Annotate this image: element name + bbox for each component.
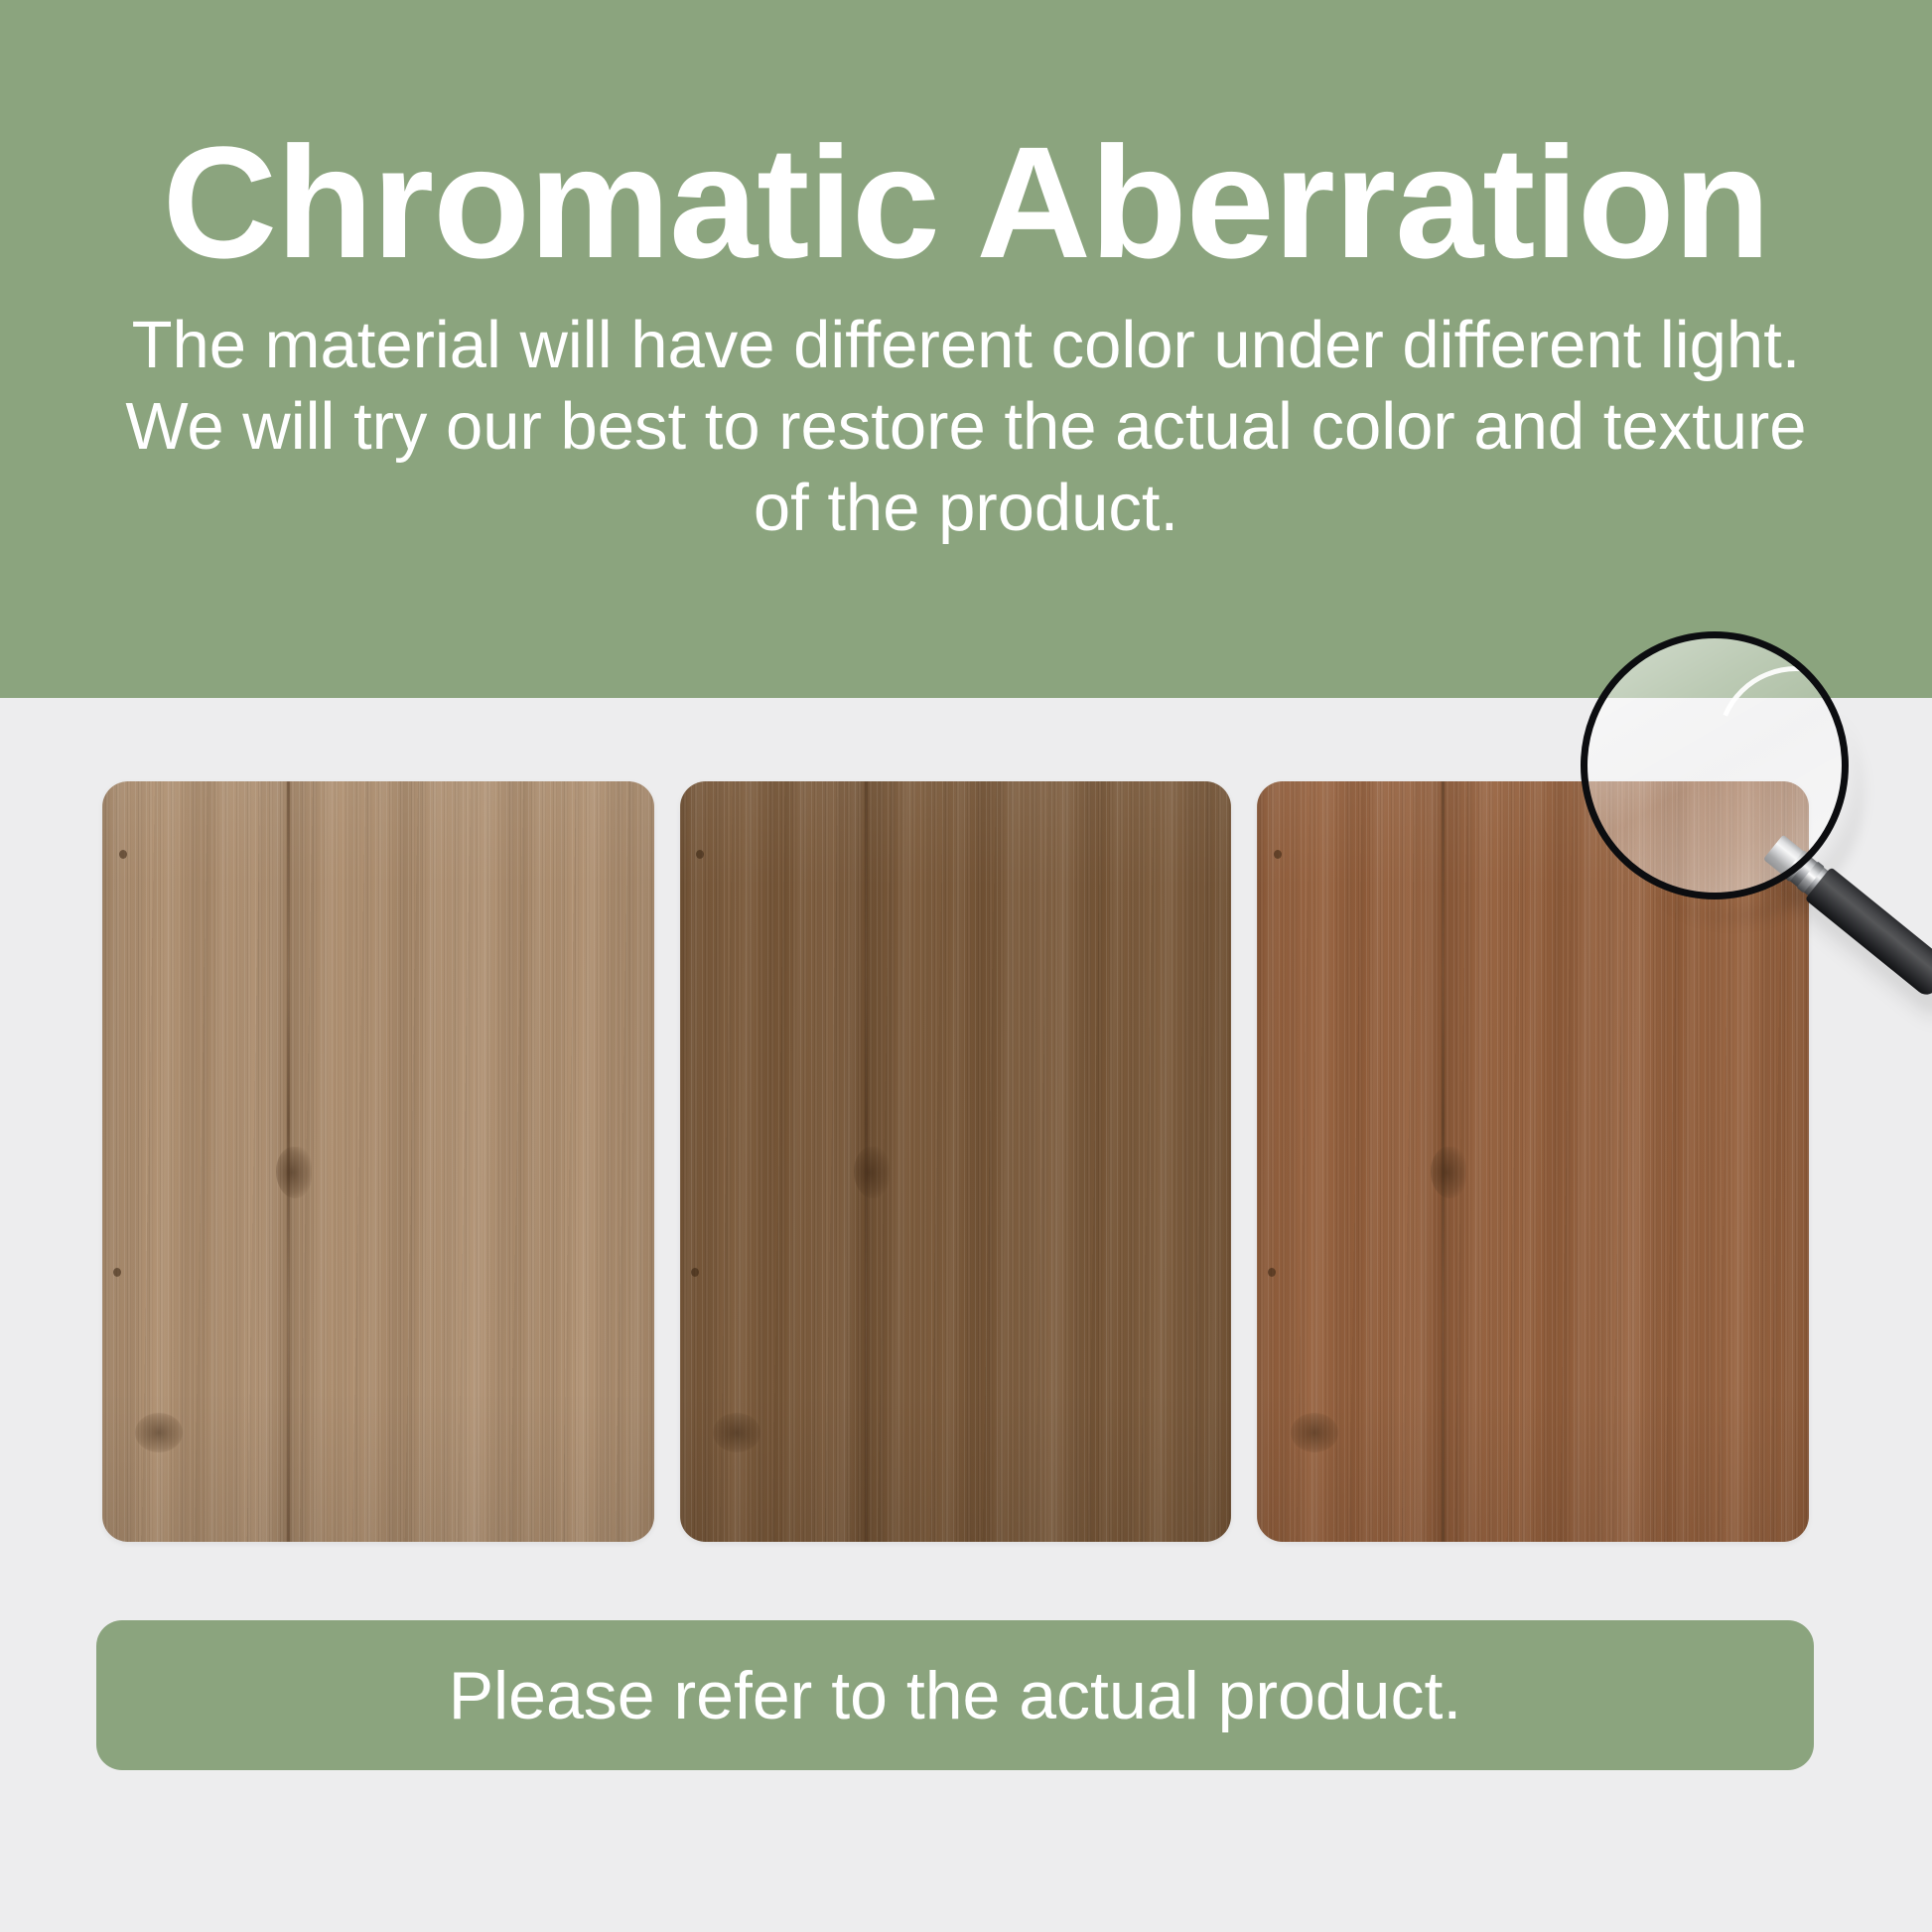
- swatch-light-oak[interactable]: [102, 781, 654, 1542]
- swatch-reddish-brown[interactable]: [1257, 781, 1809, 1542]
- footer-banner: Please refer to the actual product.: [96, 1620, 1814, 1770]
- wood-speck-icon: [119, 850, 127, 859]
- wood-knot-secondary-icon: [135, 1413, 183, 1452]
- wood-shading-icon: [102, 781, 654, 1542]
- wood-knot-icon: [1431, 1147, 1466, 1198]
- wood-shading-icon: [680, 781, 1232, 1542]
- header-banner: Chromatic Aberration The material will h…: [0, 0, 1932, 698]
- wood-speck-icon: [1274, 850, 1282, 859]
- wood-shading-icon: [1257, 781, 1809, 1542]
- wood-knot-secondary-icon: [713, 1413, 760, 1452]
- wood-knot-icon: [276, 1147, 312, 1198]
- page-subtitle: The material will have different color u…: [122, 305, 1810, 548]
- swatch-dark-walnut[interactable]: [680, 781, 1232, 1542]
- wood-speck-icon: [691, 1268, 699, 1277]
- footer-note: Please refer to the actual product.: [449, 1662, 1462, 1729]
- wood-knot-secondary-icon: [1291, 1413, 1338, 1452]
- swatch-gallery: [102, 781, 1809, 1542]
- wood-knot-icon: [854, 1147, 890, 1198]
- page-title: Chromatic Aberration: [163, 121, 1770, 283]
